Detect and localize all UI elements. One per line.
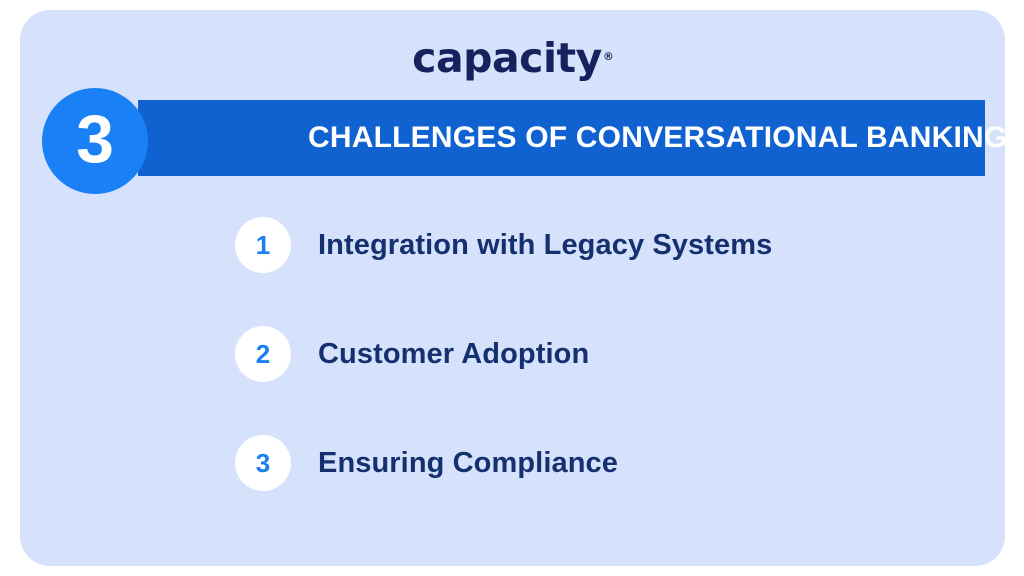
list-item-label: Ensuring Compliance <box>318 447 618 480</box>
list-item-number: 2 <box>256 341 270 367</box>
list-item-number: 1 <box>256 232 270 258</box>
list-item: 3 Ensuring Compliance <box>235 435 975 491</box>
registered-trademark-icon: ® <box>603 51 614 62</box>
list-item-marker: 1 <box>235 217 291 273</box>
list-item-label: Integration with Legacy Systems <box>318 229 772 262</box>
list-item: 2 Customer Adoption <box>235 326 975 382</box>
count-badge: 3 <box>42 88 148 194</box>
page-title: CHALLENGES OF CONVERSATIONAL BANKING <box>308 100 965 176</box>
list-item-label: Customer Adoption <box>318 338 589 371</box>
list-item-number: 3 <box>256 450 270 476</box>
list-item: 1 Integration with Legacy Systems <box>235 217 975 273</box>
brand-logo: capacity® <box>20 38 1005 79</box>
brand-logo-text: capacity <box>412 38 602 79</box>
header-band: CHALLENGES OF CONVERSATIONAL BANKING <box>138 100 985 176</box>
infographic-card: capacity® CHALLENGES OF CONVERSATIONAL B… <box>20 10 1005 566</box>
challenge-list: 1 Integration with Legacy Systems 2 Cust… <box>235 217 975 491</box>
list-item-marker: 3 <box>235 435 291 491</box>
count-badge-number: 3 <box>76 105 114 173</box>
list-item-marker: 2 <box>235 326 291 382</box>
